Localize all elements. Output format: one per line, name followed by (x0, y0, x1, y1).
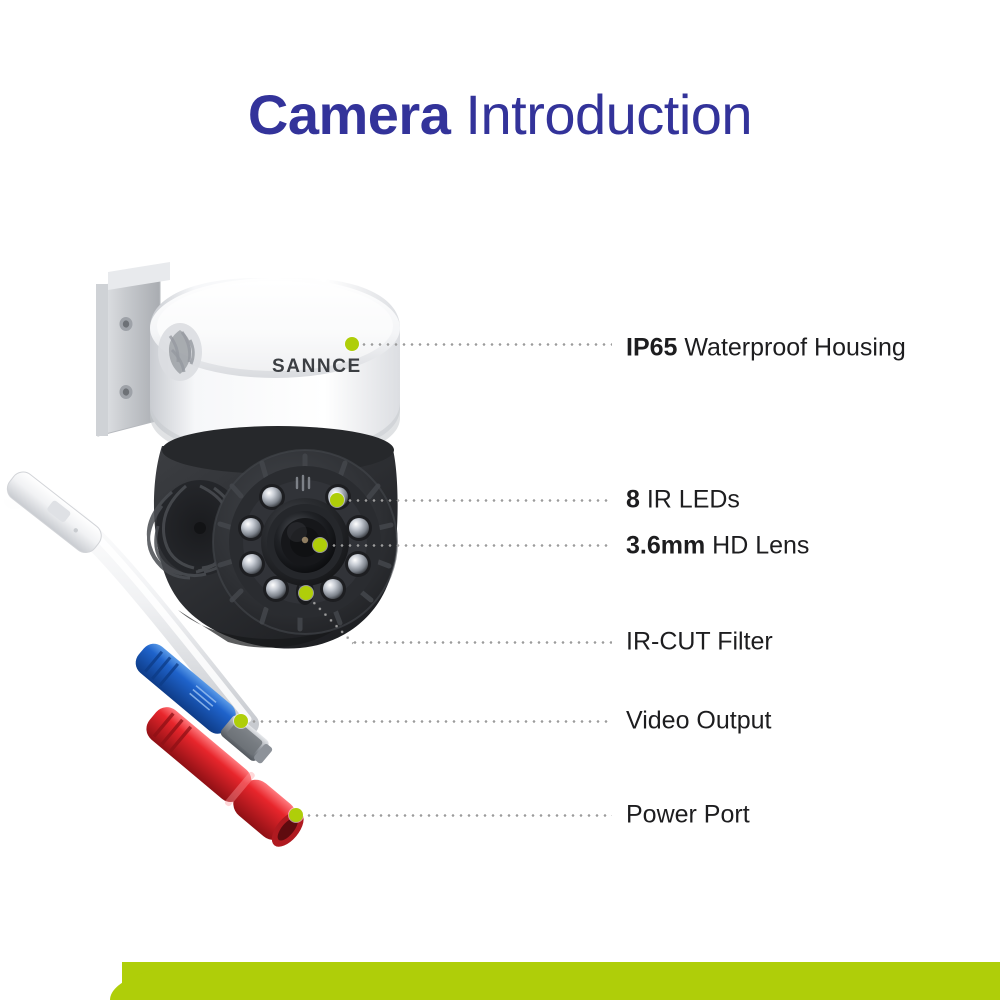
housing-vent-grille (158, 323, 202, 381)
green-band-mask (0, 962, 122, 1000)
leader-dot-power-port (289, 808, 303, 822)
leader-dot-ir-leds (330, 493, 344, 507)
callout-strong: IP65 (626, 334, 677, 362)
leader-line-hd-lens (330, 544, 612, 547)
callout-3-6mm-hd-lens: 3.6mm HD Lens (626, 532, 809, 561)
callout-normal: IR-CUT Filter (626, 628, 773, 656)
callout-ir-cut-filter: IR-CUT Filter (626, 628, 773, 657)
leader-line-video-output (250, 720, 612, 723)
callout-normal: Power Port (626, 801, 750, 829)
page-title-light: Introduction (450, 83, 752, 146)
leader-line-ir-cut (351, 641, 612, 644)
leader-line-ip65 (360, 343, 612, 346)
camera-lens (261, 498, 349, 586)
ir-led (346, 515, 372, 541)
camera-product-illustration: SANNCE (0, 250, 620, 900)
ir-led (345, 551, 371, 577)
callout-ip65-waterproof-housing: IP65 Waterproof Housing (626, 334, 906, 363)
ir-led (239, 551, 265, 577)
page-title-bold: Camera (248, 83, 450, 146)
callout-normal: HD Lens (705, 532, 809, 560)
callout-normal: Video Output (626, 707, 771, 735)
callout-strong: 8 (626, 486, 640, 514)
page-title: Camera Introduction (0, 82, 1000, 147)
camera-introduction-infographic: Camera Introduction (0, 0, 1000, 1000)
ir-led (238, 515, 264, 541)
leader-line-ir-leds (346, 499, 612, 502)
leader-dot-ip65 (345, 337, 359, 351)
leader-dot-ir-cut (299, 586, 313, 600)
leader-dot-video-output (234, 714, 248, 728)
brand-logo: SANNCE (272, 356, 362, 377)
callout-video-output: Video Output (626, 707, 771, 736)
camera-face-plate (213, 450, 397, 634)
leader-dot-hd-lens (313, 538, 327, 552)
callout-power-port: Power Port (626, 801, 750, 830)
camera-head (148, 426, 397, 649)
callout-normal: Waterproof Housing (677, 334, 905, 362)
callout-8-ir-leds: 8 IR LEDs (626, 486, 740, 515)
callout-normal: IR LEDs (640, 486, 740, 514)
leader-line-power-port (305, 814, 612, 817)
callout-strong: 3.6mm (626, 532, 705, 560)
